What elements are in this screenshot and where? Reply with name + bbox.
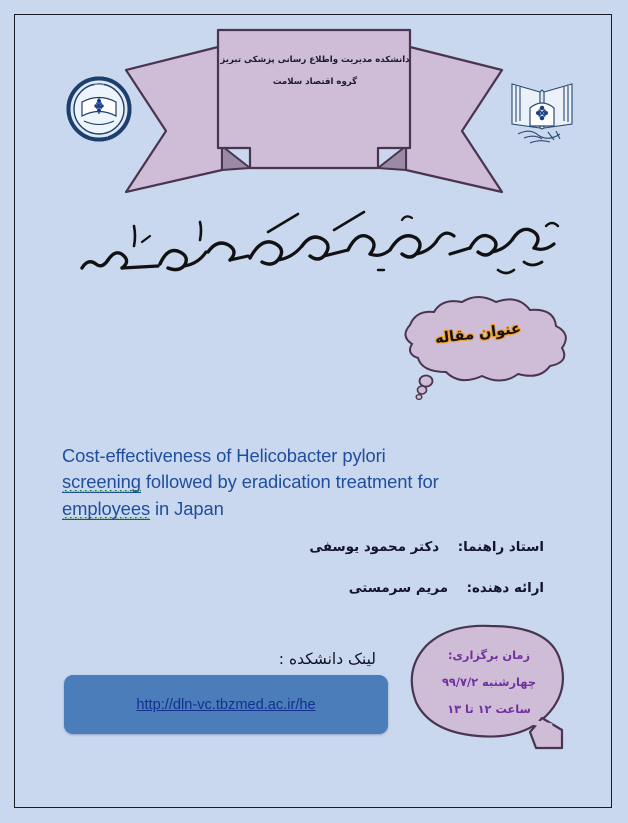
page-title: جلسه مجازی ژورنال کلاب گروه اقتصاد سلامت — [72, 196, 564, 292]
credits-block: استاد راهنما: دکتر محمود یوسفی ارائه دهن… — [120, 540, 544, 622]
ribbon-line-1: دانشکده مدیریت واطلاع رسانی پزشکی تبریز — [220, 50, 410, 72]
article-title-misspelled-screening: screening — [62, 471, 141, 493]
supervisor-line: استاد راهنما: دکتر محمود یوسفی — [120, 540, 544, 555]
article-title-line-2: followed by eradication treatment for — [141, 471, 439, 492]
supervisor-name: دکتر محمود یوسفی — [309, 540, 439, 555]
ribbon-line-2: گروه اقتصاد سلامت — [220, 72, 410, 94]
thought-cloud: عنوان مقاله — [398, 292, 584, 404]
presenter-role-label: ارائه دهنده: — [467, 581, 544, 596]
article-title-misspelled-employees: employees — [62, 498, 150, 520]
ribbon-text-block: دانشکده مدیریت واطلاع رسانی پزشکی تبریز … — [220, 50, 410, 94]
ribbon-banner: دانشکده مدیریت واطلاع رسانی پزشکی تبریز … — [104, 28, 524, 203]
poster-canvas: دانشکده مدیریت واطلاع رسانی پزشکی تبریز … — [0, 0, 628, 823]
svg-text:TABRIZ UNIV: TABRIZ UNIV — [88, 134, 109, 138]
schedule-date: چهارشنبه ۹۹/۷/۲ — [418, 669, 560, 696]
faculty-link-url[interactable]: http://dln-vc.tbzmed.ac.ir/he — [136, 697, 315, 713]
svg-text:دانشگاه: دانشگاه — [94, 82, 104, 86]
supervisor-role-label: استاد راهنما: — [458, 540, 544, 555]
faculty-link-box[interactable]: http://dln-vc.tbzmed.ac.ir/he — [64, 675, 388, 734]
open-book-emblem-icon — [504, 66, 580, 150]
schedule-heading: زمان برگزاری: — [418, 642, 560, 669]
article-title-line-3: in Japan — [150, 498, 224, 519]
article-title-line-1: Cost-effectiveness of Helicobacter pylor… — [62, 445, 386, 466]
presenter-line: ارائه دهنده: مریم سرمستی — [120, 581, 544, 596]
schedule-speech-bubble: زمان برگزاری: چهارشنبه ۹۹/۷/۲ ساعت ۱۲ تا… — [404, 622, 588, 754]
university-seal-icon: دانشگاه TABRIZ UNIV — [66, 76, 132, 142]
schedule-text-block: زمان برگزاری: چهارشنبه ۹۹/۷/۲ ساعت ۱۲ تا… — [418, 642, 560, 722]
presenter-name: مریم سرمستی — [349, 581, 448, 596]
article-title: Cost-effectiveness of Helicobacter pylor… — [62, 443, 532, 522]
schedule-hours: ساعت ۱۲ تا ۱۳ — [418, 696, 560, 723]
faculty-link-label: لینک دانشکده : — [240, 650, 376, 668]
